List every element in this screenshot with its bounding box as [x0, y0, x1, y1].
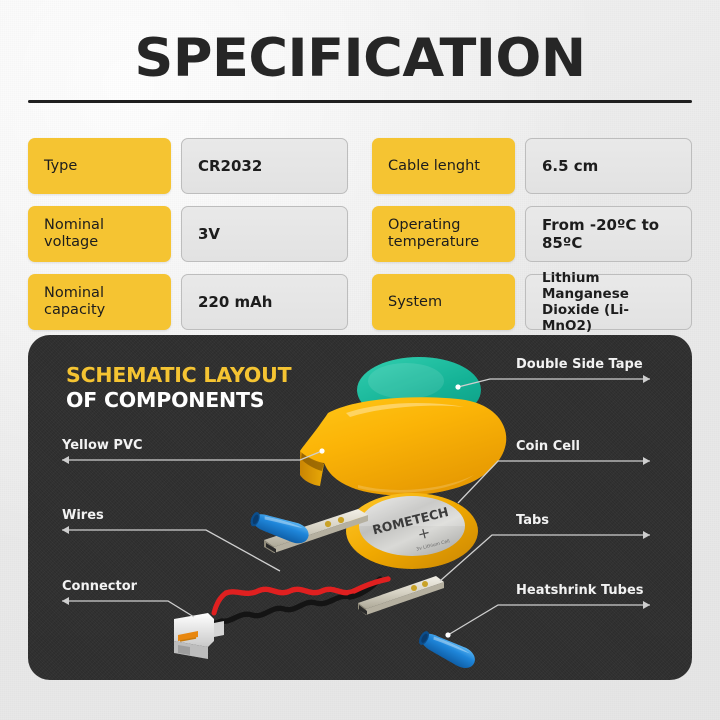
spec-key-cable-length: Cable lenght — [372, 138, 515, 194]
table-row: Operatingtemperature From -20ºC to 85ºC — [372, 206, 692, 262]
title-divider — [28, 100, 692, 103]
spec-value-cable-length: 6.5 cm — [525, 138, 692, 194]
table-row: Type CR2032 — [28, 138, 348, 194]
spec-key-operating-temperature: Operatingtemperature — [372, 206, 515, 262]
table-row: Nominalvoltage 3V — [28, 206, 348, 262]
spec-value-type: CR2032 — [181, 138, 348, 194]
spec-value-nominal-voltage: 3V — [181, 206, 348, 262]
spec-key-nominal-voltage: Nominalvoltage — [28, 206, 171, 262]
table-row: Nominalcapacity 220 mAh — [28, 274, 348, 330]
callout-label-connector: Connector — [62, 579, 137, 595]
callout-label-wires: Wires — [62, 508, 104, 524]
table-row: Cable lenght 6.5 cm — [372, 138, 692, 194]
spec-value-nominal-capacity: 220 mAh — [181, 274, 348, 330]
spec-key-system: System — [372, 274, 515, 330]
spec-value-operating-temperature: From -20ºC to 85ºC — [525, 206, 692, 262]
spec-key-nominal-capacity: Nominalcapacity — [28, 274, 171, 330]
page-title: SPECIFICATION — [0, 28, 720, 90]
callout-label-coin-cell: Coin Cell — [516, 439, 580, 455]
table-row: System Lithium ManganeseDioxide (Li-MnO2… — [372, 274, 692, 330]
callout-label-tabs: Tabs — [516, 513, 549, 529]
specification-infographic: SPECIFICATION Type CR2032 Cable lenght 6… — [0, 0, 720, 720]
callout-leader-lines — [28, 335, 692, 680]
spec-value-system: Lithium ManganeseDioxide (Li-MnO2) — [525, 274, 692, 330]
specification-table: Type CR2032 Cable lenght 6.5 cm Nominalv… — [28, 138, 692, 330]
spec-key-type: Type — [28, 138, 171, 194]
schematic-layout-panel: SCHEMATIC LAYOUT OF COMPONENTS — [28, 335, 692, 680]
callout-label-double-side-tape: Double Side Tape — [516, 357, 643, 373]
callout-label-yellow-pvc: Yellow PVC — [62, 438, 143, 454]
callout-label-heatshrink-tubes: Heatshrink Tubes — [516, 583, 644, 599]
